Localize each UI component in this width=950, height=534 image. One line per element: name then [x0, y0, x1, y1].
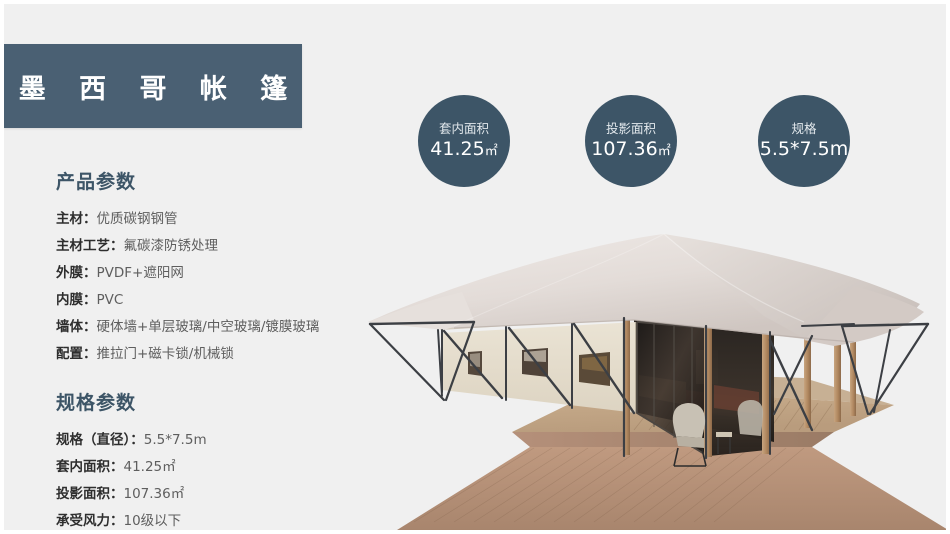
param-key: 外膜： [56, 265, 97, 281]
param-row: 规格（直径）：5.5*7.5m [56, 427, 356, 454]
param-row: 主材工艺：氟碳漆防锈处理 [56, 233, 356, 260]
stat-value: 41.25㎡ [430, 140, 497, 159]
slide-root: 墨 西 哥 帐 篷 产品参数 主材：优质碳钢钢管 主材工艺：氟碳漆防锈处理 外膜… [0, 0, 950, 534]
param-key: 主材工艺： [56, 238, 124, 254]
param-value: 硬体墙+单层玻璃/中空玻璃/镀膜玻璃 [97, 319, 320, 335]
param-key: 投影面积： [56, 486, 124, 502]
param-row: 投影面积：107.36㎡ [56, 481, 356, 508]
param-value: PVC [97, 292, 124, 308]
param-value: 推拉门+磁卡锁/机械锁 [97, 346, 234, 362]
stat-unit: ㎡ [485, 144, 498, 159]
stat-number: 5.5*7.5m [760, 138, 848, 160]
spec-section-title: 规格参数 [56, 388, 356, 415]
param-row: 配置：推拉门+磁卡锁/机械锁 [56, 341, 356, 368]
param-key: 主材： [56, 211, 97, 227]
param-row: 套内面积：41.25㎡ [56, 454, 356, 481]
tent-render-image: 墨斯营地 [334, 200, 950, 534]
stat-value: 5.5*7.5m [760, 140, 848, 159]
product-section-title: 产品参数 [56, 167, 356, 194]
tent-illustration [334, 200, 950, 534]
param-row: 内膜：PVC [56, 287, 356, 314]
title-banner: 墨 西 哥 帐 篷 [4, 44, 302, 128]
param-value: 107.36㎡ [124, 486, 185, 502]
param-key: 套内面积： [56, 459, 124, 475]
param-row: 主材：优质碳钢钢管 [56, 206, 356, 233]
param-value: PVDF+遮阳网 [97, 265, 184, 281]
stat-label: 规格 [791, 123, 816, 136]
param-row: 承受风力：10级以下 [56, 508, 356, 534]
product-parameters-section: 产品参数 主材：优质碳钢钢管 主材工艺：氟碳漆防锈处理 外膜：PVDF+遮阳网 … [56, 167, 356, 368]
tent-walls [440, 314, 642, 413]
spec-parameters-section: 规格参数 规格（直径）：5.5*7.5m 套内面积：41.25㎡ 投影面积：10… [56, 388, 356, 534]
param-value: 优质碳钢钢管 [97, 211, 178, 227]
param-value: 41.25㎡ [124, 459, 176, 475]
parameter-panel: 产品参数 主材：优质碳钢钢管 主材工艺：氟碳漆防锈处理 外膜：PVDF+遮阳网 … [56, 167, 356, 534]
page-title: 墨 西 哥 帐 篷 [7, 67, 300, 106]
param-value: 5.5*7.5m [144, 432, 207, 448]
param-key: 墙体： [56, 319, 97, 335]
param-value: 氟碳漆防锈处理 [124, 238, 219, 254]
stat-label: 投影面积 [606, 123, 656, 136]
stat-badge-projected-area: 投影面积 107.36㎡ [585, 95, 677, 187]
param-key: 配置： [56, 346, 97, 362]
param-key: 规格（直径）： [56, 432, 144, 448]
stat-number: 41.25 [430, 138, 484, 160]
stat-label: 套内面积 [439, 123, 489, 136]
stat-number: 107.36 [591, 138, 657, 160]
param-value: 10级以下 [124, 513, 182, 529]
stat-badge-dimensions: 规格 5.5*7.5m [758, 95, 850, 187]
stat-badge-interior-area: 套内面积 41.25㎡ [418, 95, 510, 187]
stat-unit: ㎡ [658, 144, 671, 159]
param-row: 墙体：硬体墙+单层玻璃/中空玻璃/镀膜玻璃 [56, 314, 356, 341]
param-key: 承受风力： [56, 513, 124, 529]
param-row: 外膜：PVDF+遮阳网 [56, 260, 356, 287]
param-key: 内膜： [56, 292, 97, 308]
stat-value: 107.36㎡ [591, 140, 671, 159]
